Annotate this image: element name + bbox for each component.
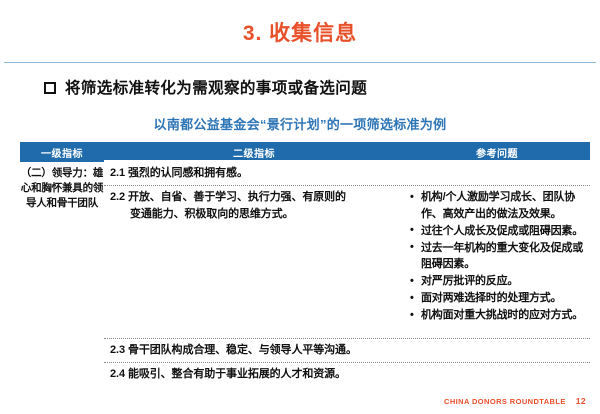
questions-cell bbox=[404, 162, 590, 168]
table-row: 2.1 强烈的认同感和拥有感。 bbox=[104, 162, 590, 185]
questions-cell bbox=[404, 339, 590, 345]
hollow-square-bullet-icon bbox=[44, 82, 56, 94]
level2-and-questions-columns: 2.1 强烈的认同感和拥有感。 2.2 开放、自省、善于学习、执行力强、有原则的… bbox=[104, 162, 590, 386]
questions-cell bbox=[404, 363, 590, 369]
level2-text-line1: 2.2 开放、自省、善于学习、执行力强、有原则的 bbox=[110, 191, 346, 203]
list-item: 机构/个人激励学习成长、团队协作、高效产出的做法及效果。 bbox=[410, 189, 588, 222]
table-body: （二）领导力：雄心和胸怀兼具的领导人和骨干团队 2.1 强烈的认同感和拥有感。 … bbox=[20, 162, 590, 386]
slide-title: 3. 收集信息 bbox=[0, 0, 600, 45]
example-caption: 以南都公益基金会“景行计划”的一项筛选标准为例 bbox=[0, 114, 600, 133]
level2-text-line2: 变通能力、积极取向的思维方式。 bbox=[110, 206, 398, 223]
list-item: 对严厉批评的反应。 bbox=[410, 273, 588, 290]
list-item: 机构面对重大挑战时的应对方式。 bbox=[410, 307, 588, 324]
criteria-table: 一级指标 二级指标 参考问题 （二）领导力：雄心和胸怀兼具的领导人和骨干团队 2… bbox=[20, 142, 590, 386]
table-header-row: 一级指标 二级指标 参考问题 bbox=[20, 142, 590, 162]
questions-cell: 机构/个人激励学习成长、团队协作、高效产出的做法及效果。 过往个人成长及促成或阻… bbox=[404, 186, 590, 327]
level2-text-line1: 2.1 强烈的认同感和拥有感。 bbox=[110, 167, 248, 179]
column-header-level1: 一级指标 bbox=[20, 145, 104, 160]
table-row: 2.2 开放、自省、善于学习、执行力强、有原则的 变通能力、积极取向的思维方式。… bbox=[104, 185, 590, 338]
level2-text-line1: 2.4 能吸引、整合有助于事业拓展的人才和资源。 bbox=[110, 368, 346, 380]
list-item: 面对两难选择时的处理方式。 bbox=[410, 290, 588, 307]
level1-indicator-cell: （二）领导力：雄心和胸怀兼具的领导人和骨干团队 bbox=[20, 166, 104, 212]
column-header-questions: 参考问题 bbox=[404, 145, 590, 160]
table-row: 2.3 骨干团队构成合理、稳定、与领导人平等沟通。 bbox=[104, 338, 590, 362]
level2-cell: 2.2 开放、自省、善于学习、执行力强、有原则的 变通能力、积极取向的思维方式。 bbox=[104, 186, 404, 226]
list-item: 过往个人成长及促成或阻碍因素。 bbox=[410, 223, 588, 240]
footer-organization: CHINA DONORS ROUNDTABLE bbox=[444, 397, 566, 406]
column-header-level2: 二级指标 bbox=[104, 145, 404, 160]
footer-page-number: 12 bbox=[576, 396, 586, 406]
list-item: 过去一年机构的重大变化及促成或阻碍因素。 bbox=[410, 240, 588, 273]
table-row: 2.4 能吸引、整合有助于事业拓展的人才和资源。 bbox=[104, 362, 590, 386]
level1-column: （二）领导力：雄心和胸怀兼具的领导人和骨干团队 bbox=[20, 162, 104, 386]
section-heading-label: 将筛选标准转化为需观察的事项或备选问题 bbox=[65, 76, 367, 98]
slide-footer: CHINA DONORS ROUNDTABLE 12 bbox=[444, 396, 586, 406]
level2-text-line1: 2.3 骨干团队构成合理、稳定、与领导人平等沟通。 bbox=[110, 344, 357, 356]
level2-cell: 2.1 强烈的认同感和拥有感。 bbox=[104, 162, 404, 185]
reference-questions-list: 机构/个人激励学习成长、团队协作、高效产出的做法及效果。 过往个人成长及促成或阻… bbox=[410, 189, 588, 324]
level2-cell: 2.3 骨干团队构成合理、稳定、与领导人平等沟通。 bbox=[104, 339, 404, 362]
level2-cell: 2.4 能吸引、整合有助于事业拓展的人才和资源。 bbox=[104, 363, 404, 386]
title-divider-rule bbox=[4, 62, 596, 63]
section-heading: 将筛选标准转化为需观察的事项或备选问题 bbox=[44, 76, 367, 98]
